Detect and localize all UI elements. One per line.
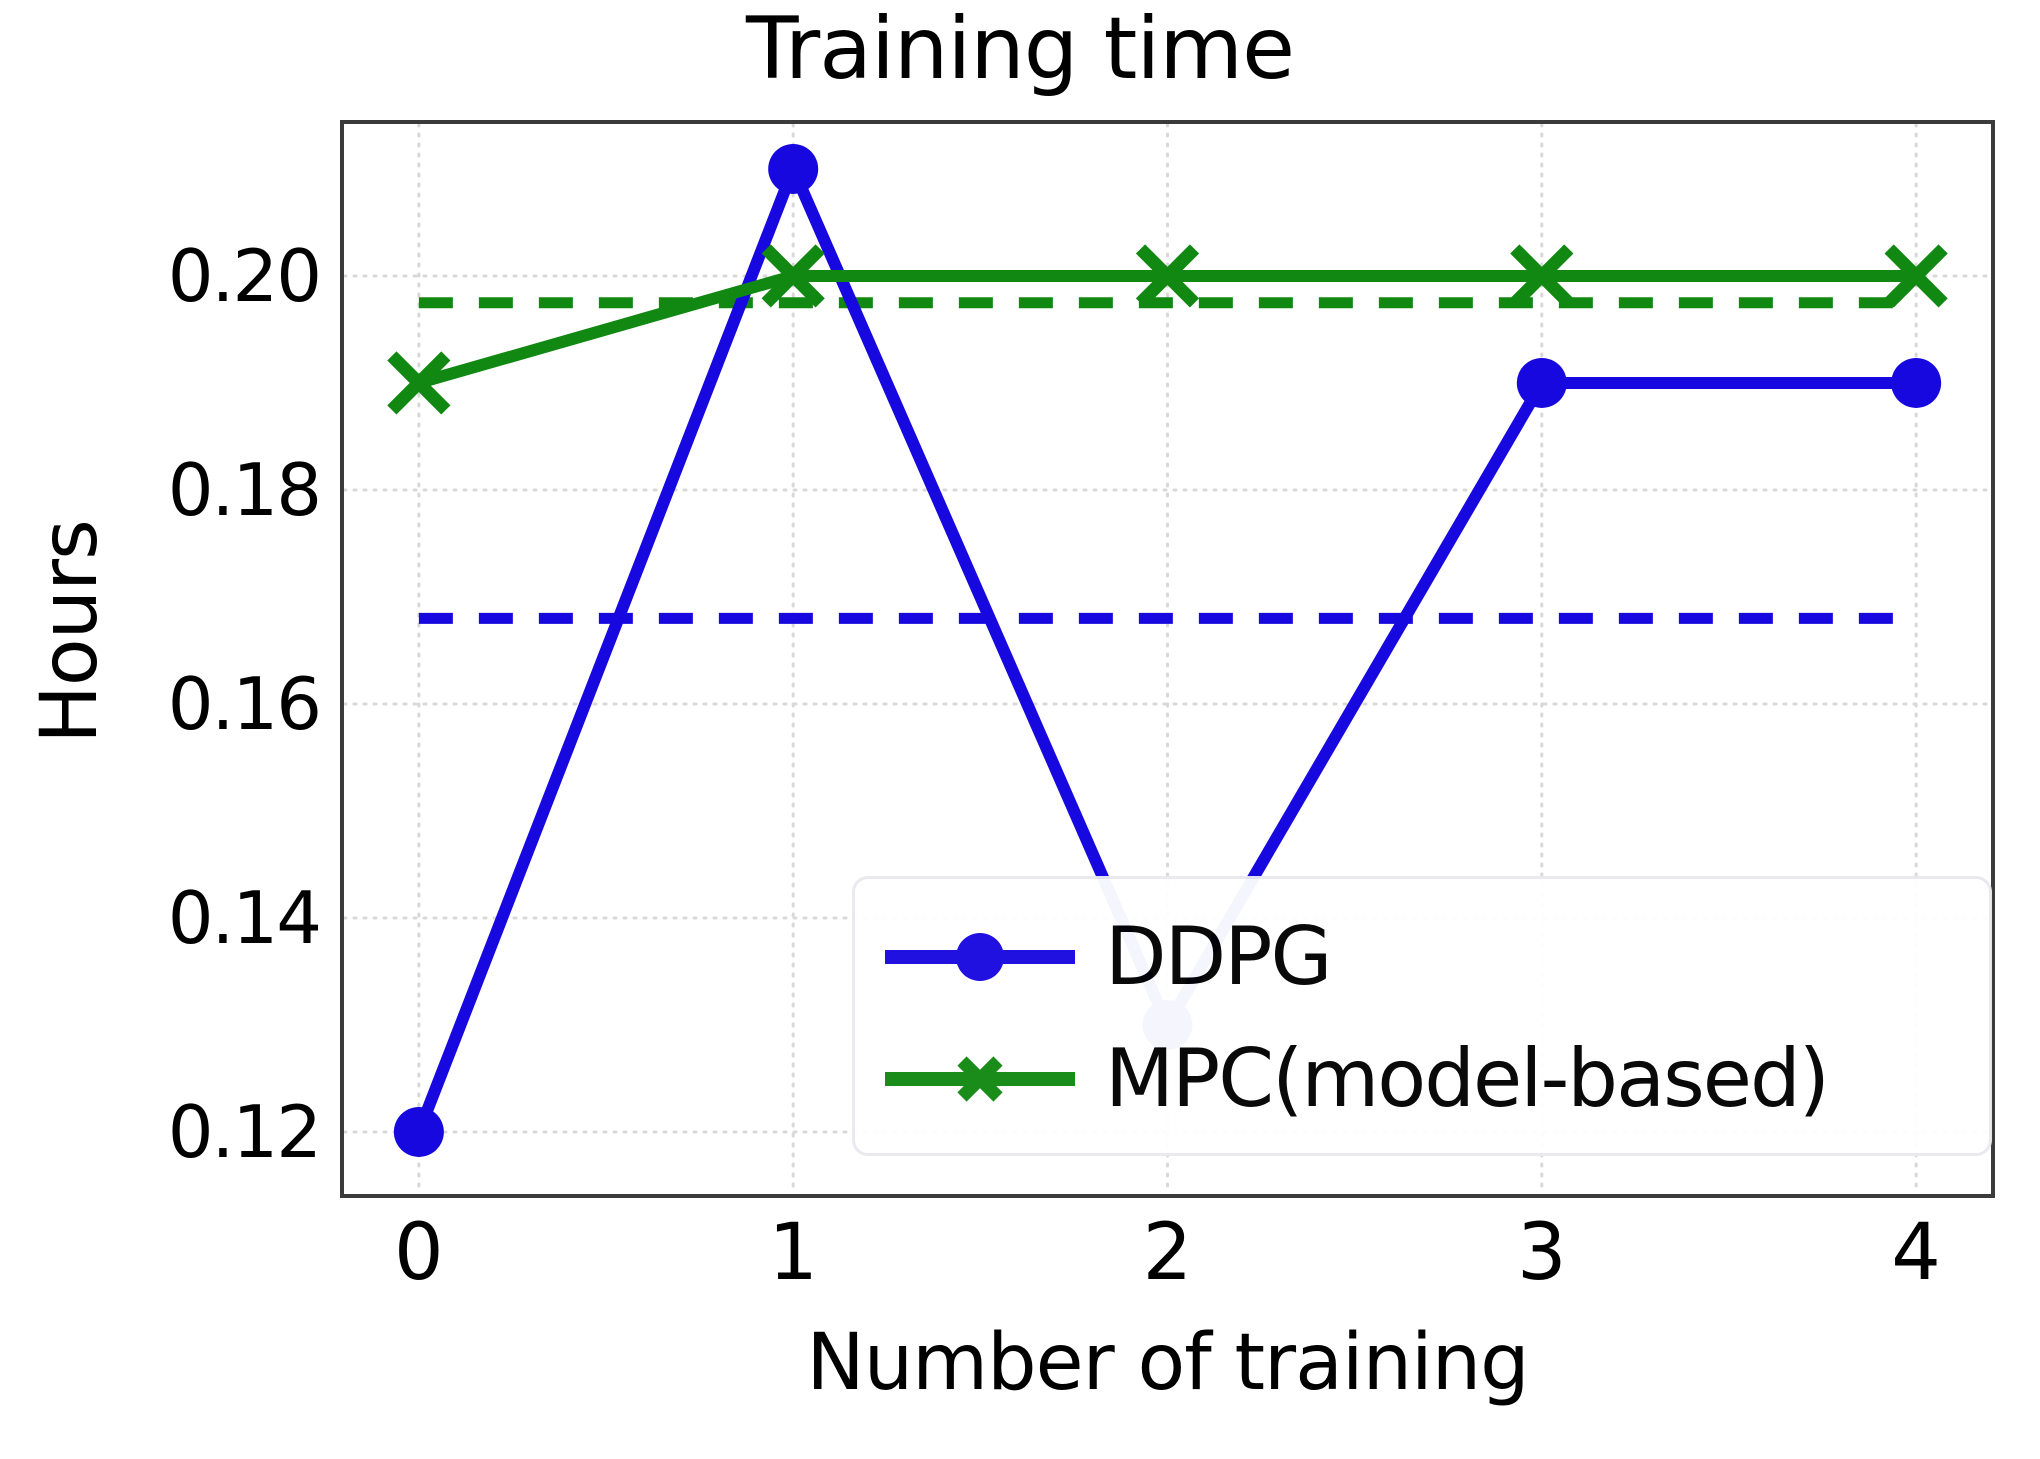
line-circle-marker-icon (855, 907, 1105, 1007)
x-tick-label: 1 (733, 1210, 853, 1296)
x-tick-label: 3 (1482, 1210, 1602, 1296)
line-x-marker-icon (855, 1029, 1105, 1129)
y-tick-label: 0.14 (60, 882, 320, 954)
legend-item-mpc[interactable]: MPC(model-based) (855, 1029, 1989, 1129)
figure-canvas: Training time Hours 0.20 0.18 0.16 0.14 … (0, 0, 2040, 1459)
x-axis-label: Number of training (340, 1320, 1995, 1406)
y-tick-label: 0.18 (60, 454, 320, 526)
page-title: Training time (0, 2, 2040, 97)
y-axis-tick-labels: 0.20 0.18 0.16 0.14 0.12 (40, 120, 320, 1198)
x-axis-tick-labels: 0 1 2 3 4 (340, 1210, 1995, 1320)
y-tick-label: 0.12 (60, 1096, 320, 1168)
legend-item-ddpg[interactable]: DDPG (855, 907, 1989, 1007)
legend-item-label: DDPG (1105, 915, 1330, 999)
x-tick-label: 0 (359, 1210, 479, 1296)
x-tick-label: 2 (1108, 1210, 1228, 1296)
y-tick-label: 0.20 (60, 240, 320, 312)
reference-lines (419, 303, 1916, 619)
legend: DDPG MPC(model-based) (852, 876, 1992, 1156)
legend-item-label: MPC(model-based) (1105, 1037, 1828, 1121)
x-tick-label: 4 (1856, 1210, 1976, 1296)
y-tick-label: 0.16 (60, 668, 320, 740)
